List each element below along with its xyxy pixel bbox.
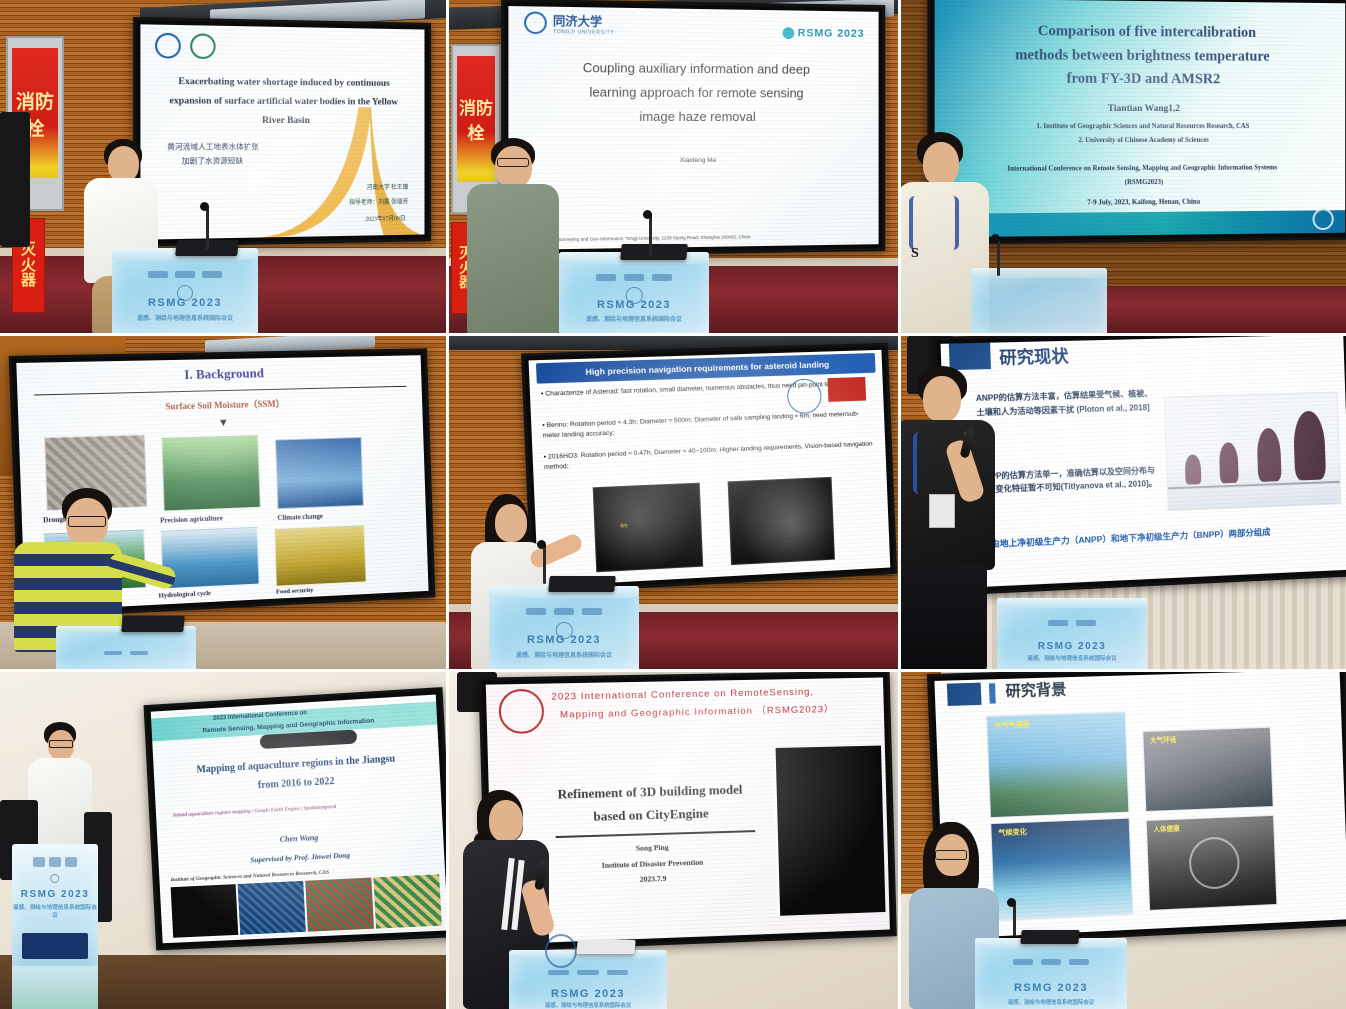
org-name-en: TONGJI UNIVERSITY <box>553 29 614 36</box>
image-label-aerosol: 大气气溶胶 <box>994 719 1030 730</box>
tongji-university-logo <box>524 12 547 35</box>
room-scene: 消防栓 灭 火 器 Exacerbating water shortage in… <box>0 0 446 333</box>
photo-precision-agriculture <box>161 436 261 512</box>
caption-food-security: Food security <box>276 587 314 596</box>
asteroid-image-left: 6m <box>592 482 703 572</box>
slide-date: 2023.7.9 <box>532 870 772 887</box>
podium-logo <box>582 608 602 615</box>
slide-banner-line-2: Mapping and Geographic Information （RSMG… <box>560 700 877 720</box>
slide-author: Tiantian Wang1,2 <box>935 104 1346 114</box>
microphone-head <box>643 210 652 219</box>
slide-6: 研究现状 ANPP的估算方法丰富，估算结果受气候、植被、土壤和人为活动等因素干扰… <box>941 336 1346 588</box>
microphone-head <box>991 234 1000 243</box>
projection-screen-1: Exacerbating water shortage induced by c… <box>133 17 431 247</box>
microphone-head <box>1007 898 1016 907</box>
diagram-plant-3 <box>1256 427 1282 482</box>
thumbnail-sar <box>171 884 238 938</box>
collage-panel-4[interactable]: I. Background Surface Soil Moisture（SSM）… <box>0 336 449 672</box>
slide-date: 2023年07月09日 <box>365 216 405 223</box>
podium-logo <box>548 970 569 975</box>
slide-footer-cn-2: 指导老师：刘露 张瑞芳 <box>349 199 408 207</box>
head <box>108 146 139 182</box>
torso-green-tshirt <box>467 184 559 336</box>
podium-paper <box>576 940 635 954</box>
podium-rsmg-label: RSMG 2023 <box>997 641 1147 652</box>
room-scene: I. Background Surface Soil Moisture（SSM）… <box>0 336 446 669</box>
microphone-stand <box>1013 902 1016 936</box>
head <box>923 142 959 186</box>
slide-affiliation-1: 1. Institute of Geographic Sciences and … <box>952 123 1330 130</box>
podium-logo <box>175 271 195 278</box>
podium-logo <box>607 970 628 975</box>
slide-subheading: Surface Soil Moisture（SSM） <box>18 393 423 416</box>
header-accent-block <box>947 682 981 706</box>
slide-thumbnail-strip <box>171 874 442 938</box>
asteroid-scale-label: 6m <box>620 523 627 529</box>
slide-bullet-2: ▪ Bennu: Rotation period ≈ 4.3h; Diamete… <box>542 409 874 441</box>
slide-date-place: 7-9 July, 2023, Kaifeng, Henan, China <box>935 196 1346 207</box>
microphone-head <box>200 202 209 211</box>
slide-author: Song Ping <box>531 840 771 856</box>
podium-chinese-label: 遥感、测绘与地理信息系统国际会议 <box>559 314 709 323</box>
podium-logo <box>554 608 574 615</box>
podium-top <box>997 598 1147 608</box>
podium-rsmg-label: RSMG 2023 <box>112 297 258 309</box>
podium-seal <box>50 874 59 883</box>
podium-logo-row <box>67 651 185 655</box>
slide-conference-line-1: International Conference on Remote Sensi… <box>943 164 1337 173</box>
diagram-plant-2 <box>1219 442 1239 483</box>
extinguisher-label-char3: 器 <box>21 273 36 289</box>
asteroid-image-right <box>728 476 836 565</box>
slide-paragraph-1: ANPP的估算方法丰富，估算结果受气候、植被、土壤和人为活动等因素干扰 (Plo… <box>976 387 1157 420</box>
podium-logo <box>202 271 222 278</box>
podium-info-block <box>22 933 87 959</box>
room-scene: 2023 International Conference on RemoteS… <box>449 672 898 1009</box>
podium-chinese-label: 遥感、测绘与地理信息系统国际会议 <box>112 313 258 322</box>
podium-chinese-label: 遥感、测绘与地理信息系统国际会议 <box>997 654 1147 662</box>
photo-collage: 消防栓 灭 火 器 Exacerbating water shortage in… <box>0 0 1346 1009</box>
slide-keywords: Inland aquaculture regions mapping | Goo… <box>173 799 433 819</box>
podium-logo <box>624 274 644 281</box>
slide-title-line-2: based on CityEngine <box>530 804 770 827</box>
slide-logos <box>155 33 216 59</box>
photo-food-security <box>274 525 367 586</box>
room-scene: Comparison of five intercalibration meth… <box>901 0 1346 333</box>
podium-logo <box>596 274 616 281</box>
slide-footer: College of Surveying and Geo-Informatics… <box>536 232 868 242</box>
tshirt-graphic: S <box>911 246 919 262</box>
slide-3: Comparison of five intercalibration meth… <box>935 0 1346 237</box>
thumbnail-ponds-classified <box>305 877 374 932</box>
microphone-stand <box>543 544 546 584</box>
red-logo-icon <box>828 377 867 402</box>
slide-bullet-3: ▪ 2016HO3: Rotation period ≈ 0.47h; Diam… <box>543 440 875 473</box>
podium-rsmg-label: RSMG 2023 <box>559 299 709 311</box>
podium-logo-row <box>124 271 247 278</box>
rsmg-seal-logo <box>498 689 544 734</box>
podium-rsmg-label: RSMG 2023 <box>975 982 1127 994</box>
henan-university-logo <box>155 33 181 59</box>
slide-subtitle-cn-1: 黄河流域人工地表水体扩张 <box>167 143 259 152</box>
podium-rsmg-label: RSMG 2023 <box>489 634 639 646</box>
podium-logo-row <box>501 608 627 615</box>
collage-panel-5[interactable]: High precision navigation requirements f… <box>449 336 901 672</box>
slide-author: Xiaofeng Ma <box>508 156 878 165</box>
slide-subtitle-cn-2: 加剧了水资源短缺 <box>182 157 243 166</box>
slide-title-line-2: methods between brightness temperature <box>952 46 1330 65</box>
podium-logo <box>1041 959 1061 965</box>
podium-logo <box>65 857 77 867</box>
podium-rsmg-label: RSMG 2023 <box>509 988 667 1000</box>
rsmg-badge-label: RSMG 2023 <box>798 27 865 40</box>
diagram-plant-1 <box>1184 455 1201 485</box>
slide-banner-text: High precision navigation requirements f… <box>585 360 829 378</box>
room-scene: 研究背景 大气气溶胶 气候变化 大气环境 人体健康 <box>901 672 1346 1009</box>
collage-panel-8[interactable]: 2023 International Conference on RemoteS… <box>449 672 901 1009</box>
podium-emblem <box>545 934 577 968</box>
down-arrow-icon: ▼ <box>218 417 229 429</box>
slide-side-panel <box>772 746 885 916</box>
header-accent-bar <box>989 683 996 704</box>
podium-logo <box>1048 620 1068 626</box>
hydrant-poster: 消防栓 <box>457 56 496 182</box>
microphone-stand <box>206 206 209 250</box>
image-atmospheric-aerosol: 大气气溶胶 <box>986 711 1129 818</box>
microphone-stand <box>649 214 652 256</box>
slide-banner-line-1: 2023 International Conference on RemoteS… <box>551 685 876 702</box>
slide-title-line-1: Comparison of five intercalibration <box>960 23 1329 43</box>
slide-heading: 研究现状 <box>999 342 1069 369</box>
thumbnail-ponds-blue <box>238 881 306 935</box>
extinguisher-label-char2: 火 <box>21 258 36 274</box>
projection-screen-7: 2023 International Conference on Remote … <box>144 687 449 950</box>
image-human-health: 人体健康 <box>1146 815 1278 911</box>
loudspeaker <box>0 112 30 247</box>
podium-banner-7: RSMG 2023 遥感、测绘与地理信息系统国际会议 <box>12 844 98 1009</box>
caption-precision-agriculture: Precision agriculture <box>160 514 223 525</box>
podium-logo <box>130 651 149 655</box>
podium-laptop <box>620 244 688 260</box>
podium-logo-row <box>1009 620 1135 626</box>
projection-screen-3: Comparison of five intercalibration meth… <box>927 0 1346 245</box>
sponsor-logo-icon <box>1312 208 1333 230</box>
podium-logo-row <box>987 959 1115 965</box>
podium-9: RSMG 2023 遥感、测绘与地理信息系统国际会议 <box>975 938 1127 1009</box>
podium-6: RSMG 2023 遥感、测绘与地理信息系统国际会议 <box>997 598 1147 672</box>
slide-affiliation: Institute of Disaster Prevention <box>532 855 772 872</box>
podium-5: RSMG 2023 遥感、测绘与地理信息系统国际会议 <box>489 586 639 672</box>
podium-logo <box>49 857 61 867</box>
slide-supervisor: Supervised by Prof. Jinwei Dong <box>158 845 444 868</box>
slide-5: High precision navigation requirements f… <box>529 350 891 587</box>
slide-paragraph-2: BNPP的估算方法单一，准确估算以及空间分布与时空变化特征暂不可知(Titlya… <box>978 464 1159 498</box>
slide-heading: 研究背景 <box>1005 678 1067 701</box>
glasses-icon <box>49 740 73 748</box>
podium-4 <box>56 626 196 672</box>
collage-panel-6[interactable]: 研究现状 ANPP的估算方法丰富，估算结果受气候、植被、土壤和人为活动等因素干扰… <box>901 336 1346 672</box>
slide-1: Exacerbating water shortage induced by c… <box>140 24 424 239</box>
room-scene: 研究现状 ANPP的估算方法丰富，估算结果受气候、植被、土壤和人为活动等因素干扰… <box>901 336 1346 669</box>
podium-logo <box>1069 959 1089 965</box>
podium-logo <box>577 970 598 975</box>
room-scene: 2023 International Conference on Remote … <box>0 672 446 1009</box>
slide-conference-line-2: (RSMG2023) <box>935 178 1346 188</box>
head <box>495 504 527 542</box>
image-label-climate: 气候变化 <box>998 827 1027 838</box>
slide-7: 2023 International Conference on Remote … <box>151 695 448 944</box>
slide-heading: I. Background <box>17 362 422 387</box>
bullet-text-3: 2016HO3: Rotation period ≈ 0.47h; Diamet… <box>544 441 873 471</box>
image-label-health: 人体健康 <box>1153 823 1180 834</box>
image-label-environment: 大气环境 <box>1150 734 1177 745</box>
podium-logo <box>104 651 123 655</box>
slide-title-line-3: from FY-3D and AMSR2 <box>952 70 1330 88</box>
podium-logo <box>1076 620 1096 626</box>
slide-title-line-1: Refinement of 3D building model <box>530 781 770 803</box>
podium-chinese-label: 遥感、测绘与地理信息系统国际会议 <box>509 1001 667 1009</box>
bullet-text-2: Bennu: Rotation period ≈ 4.3h; Diameter … <box>543 411 860 440</box>
slide-affiliation-2: 2. University of Chinese Academy of Scie… <box>952 136 1330 144</box>
podium-chinese-label: 遥感、测绘与地理信息系统国际会议 <box>12 903 98 919</box>
slide-title-line-3: image haze removal <box>532 109 858 125</box>
collage-panel-7[interactable]: 2023 International Conference on Remote … <box>0 672 449 1009</box>
podium-laptop <box>548 576 616 592</box>
podium-logo-row <box>19 857 91 867</box>
podium-chinese-label: 遥感、测绘与地理信息系统国际会议 <box>489 650 639 659</box>
rsmg-logo-icon <box>782 27 794 39</box>
podium-1: RSMG 2023 遥感、测绘与地理信息系统国际会议 <box>112 248 258 336</box>
rsmg-badge: RSMG 2023 <box>782 27 864 40</box>
collage-panel-2[interactable]: 消防栓 灭 火 器 同济大学 TONGJI UNIVERSITY <box>449 0 901 336</box>
hydrant-label: 消防栓 <box>457 94 496 144</box>
header-accent-block <box>949 343 992 371</box>
podium-logo <box>652 274 672 281</box>
podium-logo <box>1013 959 1033 965</box>
glasses-icon <box>68 516 106 527</box>
podium-chinese-label: 遥感、测绘与地理信息系统国际会议 <box>975 998 1127 1006</box>
health-highlight-circle <box>1188 837 1240 891</box>
slide-title-line-2: learning approach for remote sensing <box>532 84 858 101</box>
title-underline <box>555 830 755 838</box>
podium-3 <box>971 268 1107 336</box>
org-name-cn: 同济大学 <box>553 12 614 30</box>
projection-screen-5: High precision navigation requirements f… <box>521 343 897 594</box>
image-atmospheric-environment: 大气环境 <box>1142 727 1273 812</box>
institute-logo <box>190 34 216 60</box>
collage-panel-3[interactable]: Comparison of five intercalibration meth… <box>901 0 1346 336</box>
diagram-plant-4 <box>1293 410 1326 480</box>
podium-rsmg-label: RSMG 2023 <box>12 889 98 900</box>
room-scene: 消防栓 灭 火 器 同济大学 TONGJI UNIVERSITY <box>449 0 898 333</box>
head <box>495 146 532 188</box>
head <box>923 376 961 422</box>
npp-diagram <box>1164 391 1341 511</box>
podium-logo <box>148 271 168 278</box>
tongji-logo-block: 同济大学 TONGJI UNIVERSITY <box>524 11 614 36</box>
podium-laptop <box>1020 930 1079 944</box>
caption-hydrological-cycle: Hydrological cycle <box>159 590 212 600</box>
podium-8: RSMG 2023 遥感、测绘与地理信息系统国际会议 <box>509 950 667 1009</box>
photo-hydrological-cycle <box>160 527 259 590</box>
name-badge <box>929 494 955 528</box>
head <box>489 800 523 842</box>
microphone-head <box>537 540 546 549</box>
slide-title-line-1: Exacerbating water shortage induced by c… <box>152 76 413 89</box>
microphone-stand <box>997 238 1000 276</box>
glasses-icon <box>497 158 529 167</box>
trousers <box>901 564 987 672</box>
podium-logo-row <box>571 274 697 281</box>
collage-panel-1[interactable]: 消防栓 灭 火 器 Exacerbating water shortage in… <box>0 0 449 336</box>
photo-climate-change <box>275 437 364 509</box>
caption-climate-change: Climate change <box>277 513 323 523</box>
podium-top <box>971 268 1107 278</box>
glasses-icon <box>935 850 967 860</box>
podium-2: RSMG 2023 遥感、测绘与地理信息系统国际会议 <box>559 252 709 336</box>
collage-panel-9[interactable]: 研究背景 大气气溶胶 气候变化 大气环境 人体健康 <box>901 672 1346 1009</box>
podium-logo <box>33 857 45 867</box>
thumbnail-ponds-green <box>373 874 442 929</box>
podium-landscape-graphic <box>12 966 98 1009</box>
podium-logo-row <box>522 970 655 975</box>
podium-laptop <box>121 616 185 632</box>
slide-highlight: NPP由地上净初级生产力（ANPP）和地下净初级生产力（BNPP）两部分组成 <box>973 523 1343 552</box>
slide-title-line-1: Coupling auxiliary information and deep <box>532 60 858 78</box>
room-scene: High precision navigation requirements f… <box>449 336 898 669</box>
podium-logo <box>526 608 546 615</box>
lanyard <box>909 196 959 250</box>
slide-2: 同济大学 TONGJI UNIVERSITY RSMG 2023 Couplin… <box>508 6 878 250</box>
slide-footer-cn-1: 河南大学 杜王璐 <box>367 185 409 192</box>
